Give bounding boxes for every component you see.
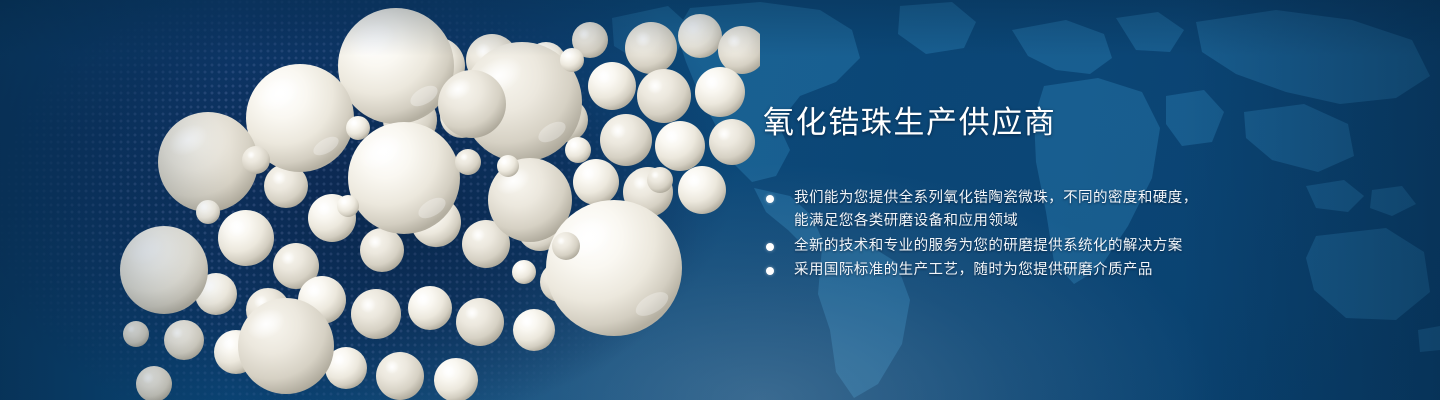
list-item-line: 能满足您各类研磨设备和应用领域	[794, 210, 1233, 234]
bullet-dot-icon	[766, 267, 774, 275]
bullet-dot-icon	[766, 195, 774, 203]
list-item-line: 采用国际标准的生产工艺，随时为您提供研磨介质产品	[794, 259, 1233, 283]
list-item: 全新的技术和专业的服务为您的研磨提供系统化的解决方案	[763, 235, 1233, 259]
page-title: 氧化锆珠生产供应商	[763, 104, 1233, 143]
bullet-dot-icon	[766, 243, 774, 251]
list-item-line: 全新的技术和专业的服务为您的研磨提供系统化的解决方案	[794, 235, 1233, 259]
list-item: 我们能为您提供全系列氧化锆陶瓷微珠，不同的密度和硬度， 能满足您各类研磨设备和应…	[763, 187, 1233, 234]
list-item: 采用国际标准的生产工艺，随时为您提供研磨介质产品	[763, 259, 1233, 283]
list-item-line: 我们能为您提供全系列氧化锆陶瓷微珠，不同的密度和硬度，	[794, 187, 1233, 211]
banner-copy-block: 氧化锆珠生产供应商 我们能为您提供全系列氧化锆陶瓷微珠，不同的密度和硬度， 能满…	[763, 104, 1233, 284]
feature-list: 我们能为您提供全系列氧化锆陶瓷微珠，不同的密度和硬度， 能满足您各类研磨设备和应…	[763, 187, 1233, 283]
hero-banner: 氧化锆珠生产供应商 我们能为您提供全系列氧化锆陶瓷微珠，不同的密度和硬度， 能满…	[0, 0, 1440, 400]
